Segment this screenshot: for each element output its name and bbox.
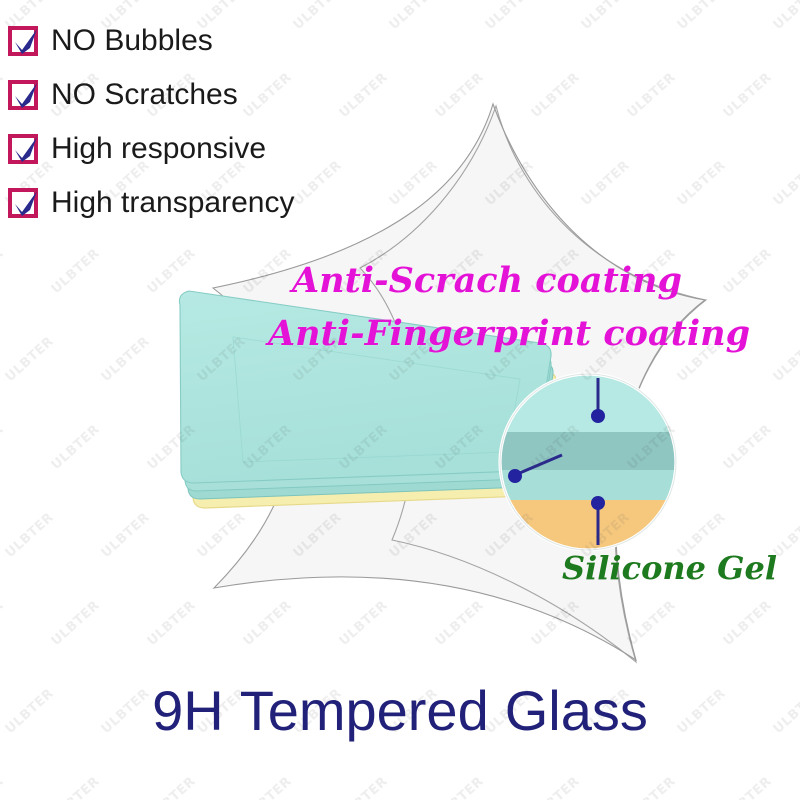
feature-label: High responsive — [51, 134, 266, 164]
product-infographic: ULBTERULBTERULBTERULBTERULBTERULBTERULBT… — [0, 0, 800, 800]
silicone-gel-caption: Silicone Gel — [562, 552, 777, 584]
product-title: 9HTemperedGlass — [0, 683, 800, 739]
product-title-part-2: Tempered — [240, 679, 489, 742]
anti-scratch-caption: Anti-Scrach coating — [292, 263, 682, 298]
anti-fingerprint-caption: Anti-Fingerprint coating — [268, 316, 750, 351]
feature-label: High transparency — [51, 188, 294, 218]
feature-item-no-scratches: NO Scratches — [8, 68, 294, 122]
feature-item-high-transparency: High transparency — [8, 176, 294, 230]
product-title-part-1: 9H — [152, 679, 224, 742]
feature-item-no-bubbles: NO Bubbles — [8, 14, 294, 68]
checkmark-icon — [8, 134, 38, 164]
product-title-part-3: Glass — [505, 679, 648, 742]
checkmark-icon — [8, 188, 38, 218]
feature-label: NO Scratches — [51, 80, 238, 110]
feature-label: NO Bubbles — [51, 26, 213, 56]
checkmark-icon — [8, 80, 38, 110]
feature-item-high-responsive: High responsive — [8, 122, 294, 176]
feature-checklist: NO Bubbles NO Scratches High responsive … — [8, 14, 294, 230]
checkmark-icon — [8, 26, 38, 56]
